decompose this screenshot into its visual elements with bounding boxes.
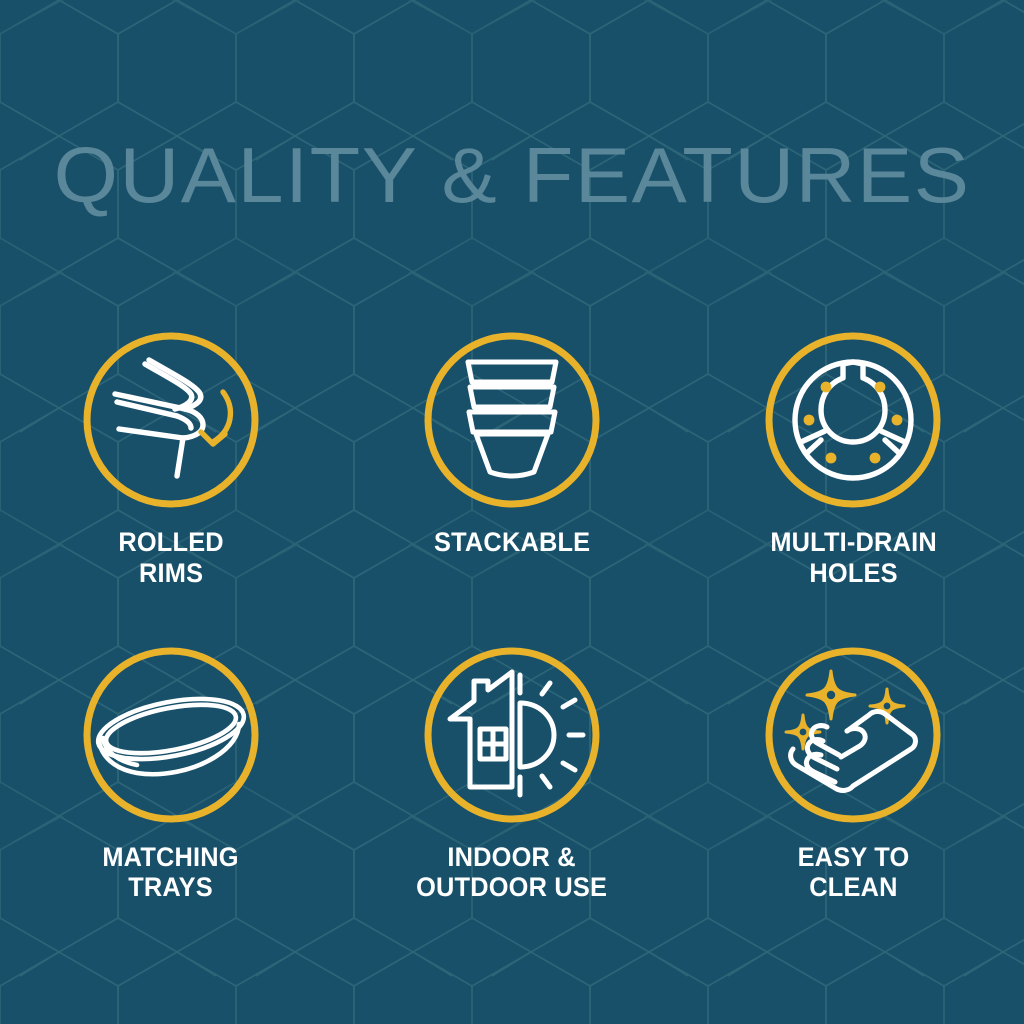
feature-label: INDOOR & OUTDOOR USE	[416, 842, 607, 904]
hand-wiping-cloth-sparkle-icon	[763, 645, 943, 825]
stacked-pots-icon	[422, 330, 602, 510]
feature-label: MATCHING TRAYS	[102, 842, 238, 904]
rolled-rim-icon	[81, 330, 261, 510]
feature-multi-drain-holes: MULTI-DRAIN HOLES	[683, 330, 1024, 589]
feature-infographic: QUALITY & FEATURES	[0, 0, 1024, 1024]
feature-indoor-outdoor-use: INDOOR & OUTDOOR USE	[341, 645, 682, 904]
saucer-tray-icon	[81, 645, 261, 825]
feature-easy-to-clean: EASY TO CLEAN	[683, 645, 1024, 904]
feature-matching-trays: MATCHING TRAYS	[0, 645, 341, 904]
feature-label: MULTI-DRAIN HOLES	[770, 527, 937, 589]
feature-label: EASY TO CLEAN	[797, 842, 909, 904]
house-and-sun-icon	[422, 645, 602, 825]
page-title: QUALITY & FEATURES	[0, 136, 1024, 214]
feature-label: STACKABLE	[434, 527, 590, 558]
features-grid: ROLLED RIMS STACKABLE	[0, 330, 1024, 903]
feature-rolled-rims: ROLLED RIMS	[0, 330, 341, 589]
feature-stackable: STACKABLE	[341, 330, 682, 589]
feature-label: ROLLED RIMS	[118, 527, 223, 589]
pot-base-drain-holes-icon	[763, 330, 943, 510]
